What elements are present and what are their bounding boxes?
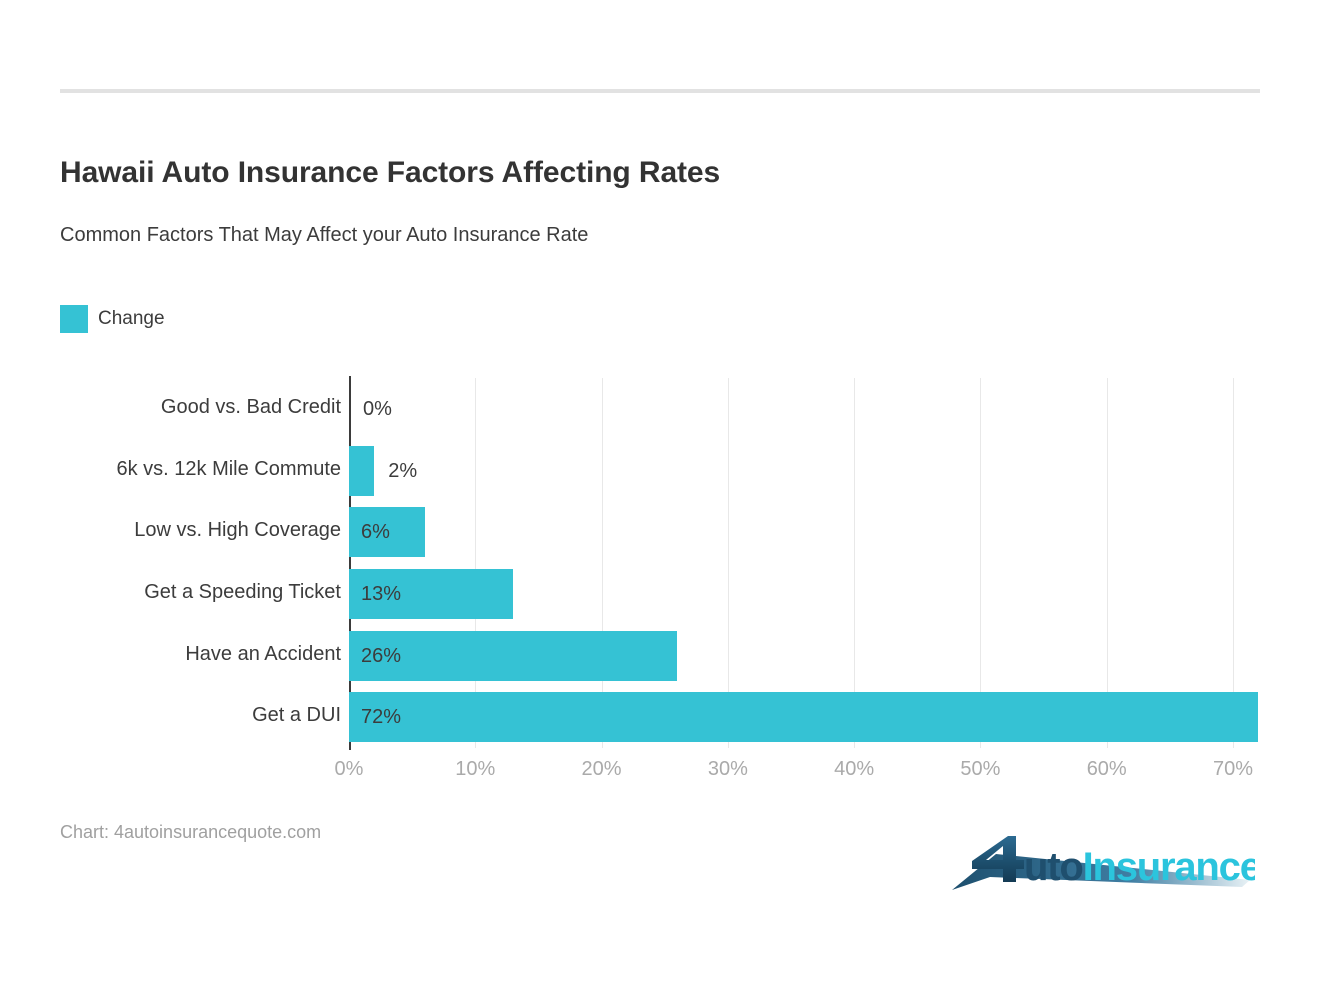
x-tick-label: 50% <box>960 758 1000 781</box>
bar-row: 26% <box>349 625 1233 687</box>
bar-value-label: 72% <box>361 692 401 742</box>
bar-value-label: 0% <box>363 384 392 434</box>
x-tick-label: 60% <box>1087 758 1127 781</box>
bar-row: 13% <box>349 563 1233 625</box>
logo-text-insurance: Insurance <box>1083 845 1255 889</box>
bar-value-label: 2% <box>388 446 417 496</box>
legend-swatch-change <box>60 305 88 333</box>
bar-value-label: 6% <box>361 507 390 557</box>
x-tick-label: 20% <box>582 758 622 781</box>
bar-value-label: 13% <box>361 569 401 619</box>
svg-text:utoInsuranceQuote: utoInsuranceQuote <box>1024 845 1255 889</box>
category-label: 6k vs. 12k Mile Commute <box>0 458 341 481</box>
x-tick-label: 70% <box>1213 758 1253 781</box>
x-tick-label: 0% <box>335 758 364 781</box>
category-label: Get a DUI <box>0 704 341 727</box>
x-tick-label: 30% <box>708 758 748 781</box>
x-tick-label: 40% <box>834 758 874 781</box>
bar-row: 72% <box>349 686 1233 748</box>
category-label: Get a Speeding Ticket <box>0 581 341 604</box>
category-label: Low vs. High Coverage <box>0 519 341 542</box>
logo-svg: utoInsuranceQuote <box>950 828 1255 900</box>
autoinsurancequote-logo[interactable]: utoInsuranceQuote <box>950 828 1255 900</box>
page-title: Hawaii Auto Insurance Factors Affecting … <box>60 156 720 190</box>
logo-text-auto: uto <box>1024 845 1083 889</box>
bar[interactable] <box>349 446 374 496</box>
bar-row: 6% <box>349 501 1233 563</box>
top-divider <box>60 89 1260 93</box>
category-label: Have an Accident <box>0 643 341 666</box>
x-tick-label: 10% <box>455 758 495 781</box>
bar-row: 2% <box>349 440 1233 502</box>
bar[interactable] <box>349 692 1258 742</box>
page-subtitle: Common Factors That May Affect your Auto… <box>60 224 588 247</box>
plot-area: 0%2%6%13%26%72% <box>349 378 1233 748</box>
chart-legend: Change <box>60 305 165 333</box>
bar-row: 0% <box>349 378 1233 440</box>
category-label: Good vs. Bad Credit <box>0 396 341 419</box>
legend-label-change: Change <box>98 305 165 333</box>
chart-credit: Chart: 4autoinsurancequote.com <box>60 822 321 843</box>
bar-value-label: 26% <box>361 631 401 681</box>
